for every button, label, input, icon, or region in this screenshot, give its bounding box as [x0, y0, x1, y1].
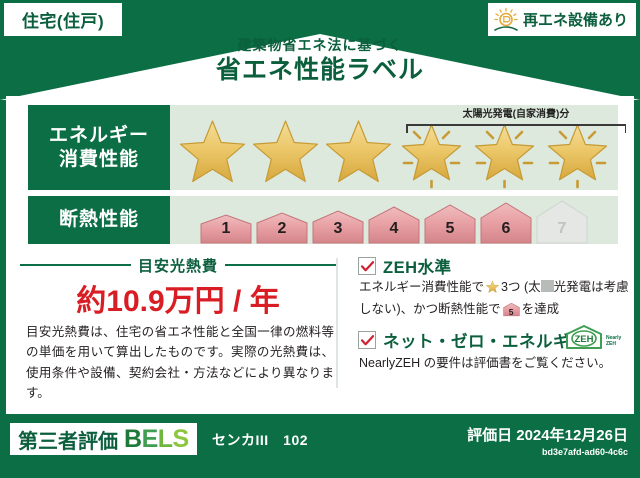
- zeh-logo: ZEH Nearly ZEH: [564, 326, 630, 350]
- bels-letter-e: E: [142, 427, 158, 452]
- solar-bracket-caption: 太陽光発電(自家消費)分: [406, 105, 626, 120]
- svg-text:ZEH: ZEH: [575, 334, 594, 345]
- utility-cost-panel: 目安光熱費 約10.9万円 / 年 目安光熱費は、住宅の省エネ性能と全国一律の燃…: [20, 252, 336, 412]
- zeh-level-description: エネルギー消費性能で3つ (太光発電は考慮しない)、かつ断熱性能で5を達成: [359, 278, 633, 324]
- house-grade-icon: 1: [198, 214, 254, 244]
- renewable-equipment-label: 再エネ設備あり: [523, 9, 628, 30]
- third-party-eval-label: 第三者評価: [18, 425, 118, 454]
- bels-badge: 第三者評価 BELS: [10, 423, 197, 455]
- zeh-logo-sub-line2: ZEH: [606, 342, 621, 348]
- star-icon: [249, 111, 322, 189]
- bels-wordmark: BELS: [124, 427, 189, 452]
- energy-row-label-line1: エネルギー: [49, 124, 149, 147]
- roof-shape: [0, 34, 640, 100]
- bels-letter-l: L: [158, 427, 173, 452]
- evaluation-info: 評価日 2024年12月26日 bd3e7afd-ad60-4c6c: [467, 424, 628, 457]
- building-type-label: 住宅(住戸): [22, 7, 104, 32]
- zeh-panel: ZEH水準 エネルギー消費性能で3つ (太光発電は考慮しない)、かつ断熱性能で5…: [358, 252, 634, 412]
- label-header: 住宅(住戸) 再エネ設備あり 建築物省エネ法に基づく: [0, 0, 640, 100]
- star-icon: [322, 111, 395, 189]
- label-footer: 第三者評価 BELS センカIII 102 評価日 2024年12月26日 bd…: [0, 418, 640, 478]
- evaluation-date: 評価日 2024年12月26日: [467, 424, 628, 445]
- heading-rule-left: [20, 264, 131, 266]
- grade-number: 2: [254, 220, 310, 238]
- label-body: エネルギー 消費性能: [6, 96, 634, 414]
- grade-number: 5: [503, 306, 520, 319]
- redacted-character: [541, 280, 554, 292]
- bels-letter-b: B: [124, 427, 142, 452]
- grade-number: 6: [478, 220, 534, 238]
- utility-cost-note: 目安光熱費は、住宅の省エネ性能と全国一律の燃料等の単価を用いて算出したものです。…: [26, 322, 334, 403]
- check-icon: [358, 331, 376, 349]
- energy-row-label-line2: 消費性能: [49, 148, 149, 171]
- grade-number: 1: [198, 220, 254, 238]
- zeh-house-logo-icon: ZEH: [564, 324, 604, 350]
- net-zero-energy-description: NearlyZEH の要件は評価書をご覧ください。: [359, 354, 633, 373]
- grade-number: 3: [310, 220, 366, 238]
- insulation-performance-row: 断熱性能 1 2: [28, 196, 618, 244]
- panel-divider: [336, 258, 338, 388]
- star-icon-inline: [485, 279, 500, 300]
- zeh-logo-sub: Nearly ZEH: [606, 336, 621, 350]
- energy-performance-row: エネルギー 消費性能: [28, 105, 618, 190]
- zeh-desc-part1: エネルギー消費性能で: [359, 280, 484, 294]
- house-grade-icon: 4: [366, 206, 422, 244]
- grade-number: 4: [366, 220, 422, 238]
- zeh-level-check-row: ZEH水準: [358, 254, 452, 278]
- zeh-desc-part3: を達成: [522, 302, 560, 316]
- zeh-desc-star-count: 3つ (太: [501, 280, 541, 294]
- sun-renewable-icon: [492, 7, 520, 33]
- solar-bracket: 太陽光発電(自家消費)分: [406, 117, 626, 131]
- building-type-tag: 住宅(住戸): [4, 3, 122, 36]
- house-grade-icon: 5: [422, 204, 478, 244]
- utility-cost-title: 目安光熱費: [138, 255, 218, 276]
- net-zero-energy-title: ネット・ゼロ・エネルギー: [383, 328, 587, 352]
- check-icon: [358, 257, 376, 275]
- utility-cost-value: 約10.9万円 / 年: [20, 276, 336, 320]
- insulation-row-label: 断熱性能: [28, 196, 170, 244]
- house-grade-icon: 3: [310, 210, 366, 244]
- utility-cost-heading: 目安光熱費: [20, 256, 336, 274]
- heading-rule-right: [225, 264, 336, 266]
- zeh-desc-redacted-tail: 光発電: [554, 280, 592, 294]
- zeh-level-title: ZEH水準: [383, 254, 452, 278]
- property-name: センカIII 102: [212, 430, 308, 450]
- house-grade-icon: 2: [254, 212, 310, 244]
- energy-row-label: エネルギー 消費性能: [28, 105, 170, 190]
- net-zero-energy-check-row: ネット・ゼロ・エネルギー: [358, 328, 587, 352]
- lower-panels: 目安光熱費 約10.9万円 / 年 目安光熱費は、住宅の省エネ性能と全国一律の燃…: [6, 252, 634, 412]
- grade-number: 5: [422, 220, 478, 238]
- energy-performance-label: 住宅(住戸) 再エネ設備あり 建築物省エネ法に基づく: [0, 0, 640, 478]
- insulation-grade-scale: 1 2 3 4: [198, 196, 598, 244]
- star-icon: [176, 111, 249, 189]
- renewable-equipment-tag: 再エネ設備あり: [488, 3, 636, 36]
- grade-number: 7: [534, 220, 590, 238]
- house-grade-icon-inline: 5: [503, 302, 520, 323]
- house-grade-icon-inactive: 7: [534, 200, 590, 244]
- house-grade-icon: 6: [478, 202, 534, 244]
- bracket-line: [406, 124, 626, 126]
- bels-letter-s: S: [173, 427, 189, 452]
- evaluation-id: bd3e7afd-ad60-4c6c: [467, 447, 628, 457]
